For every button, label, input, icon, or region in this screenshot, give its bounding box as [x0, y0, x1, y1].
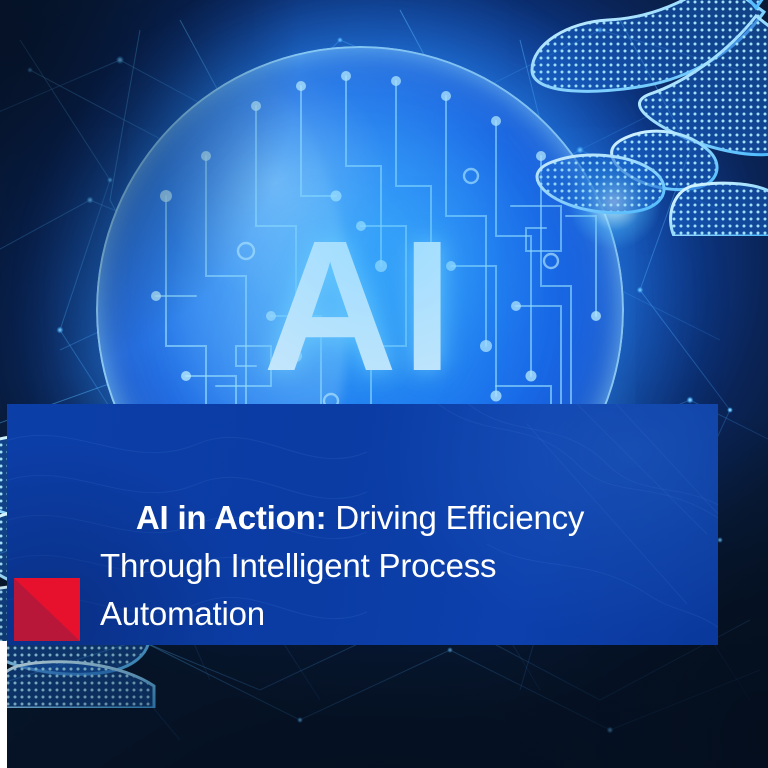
logo-diagonal-split	[14, 578, 80, 641]
banner-image: AI	[0, 0, 768, 768]
banner-title-strong: AI in Action:	[136, 499, 327, 536]
left-white-strip	[0, 641, 7, 768]
red-square-logo-mark	[14, 578, 80, 641]
banner-title: AI in Action: Driving Efficiency Through…	[100, 446, 660, 686]
